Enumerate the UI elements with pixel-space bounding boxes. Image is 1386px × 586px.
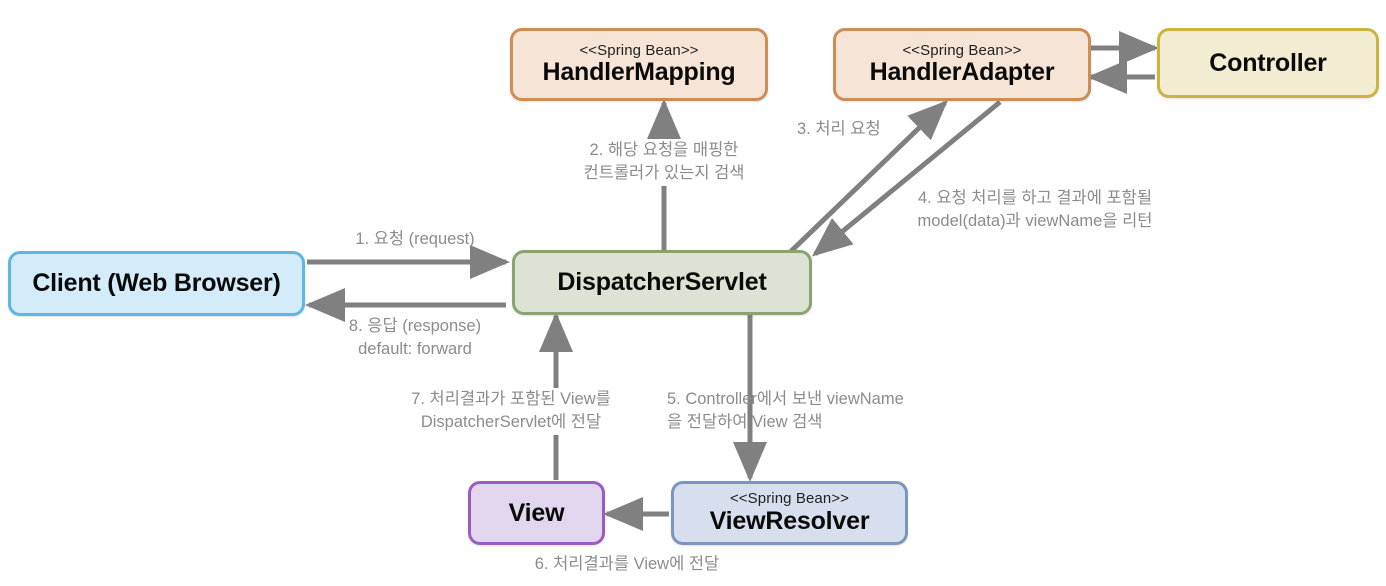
- handler-mapping-stereotype: <<Spring Bean>>: [579, 43, 698, 59]
- label-step-1: 1. 요청 (request): [330, 228, 500, 251]
- label-step-8: 8. 응답 (response) default: forward: [325, 315, 505, 362]
- handler-adapter-stereotype: <<Spring Bean>>: [902, 43, 1021, 59]
- node-handler-adapter[interactable]: <<Spring Bean>> HandlerAdapter: [833, 28, 1091, 101]
- client-title: Client (Web Browser): [32, 270, 280, 297]
- node-dispatcher-servlet[interactable]: DispatcherServlet: [512, 250, 812, 315]
- view-resolver-stereotype: <<Spring Bean>>: [730, 491, 849, 507]
- node-view-resolver[interactable]: <<Spring Bean>> ViewResolver: [671, 481, 908, 545]
- label-step-4: 4. 요청 처리를 하고 결과에 포함될 model(data)과 viewNa…: [875, 187, 1195, 234]
- node-handler-mapping[interactable]: <<Spring Bean>> HandlerMapping: [510, 28, 768, 101]
- label-step-6: 6. 처리결과를 View에 전달: [487, 553, 767, 576]
- handler-mapping-title: HandlerMapping: [542, 59, 735, 86]
- view-resolver-title: ViewResolver: [710, 508, 870, 535]
- label-step-3: 3. 처리 요청: [797, 118, 881, 141]
- node-controller[interactable]: Controller: [1157, 28, 1379, 98]
- label-step-5: 5. Controller에서 보낸 viewName 을 전달하여 View …: [667, 388, 904, 435]
- node-view[interactable]: View: [468, 481, 605, 545]
- label-step-2: 2. 해당 요청을 매핑한 컨트롤러가 있는지 검색: [529, 139, 799, 186]
- view-title: View: [509, 500, 565, 527]
- dispatcher-servlet-title: DispatcherServlet: [557, 269, 766, 296]
- node-client[interactable]: Client (Web Browser): [8, 251, 305, 316]
- label-step-7: 7. 처리결과가 포함된 View를 DispatcherServlet에 전달: [366, 388, 656, 435]
- controller-title: Controller: [1209, 50, 1326, 77]
- spring-mvc-flow-diagram: <<Spring Bean>> HandlerMapping <<Spring …: [0, 0, 1386, 586]
- handler-adapter-title: HandlerAdapter: [870, 59, 1055, 86]
